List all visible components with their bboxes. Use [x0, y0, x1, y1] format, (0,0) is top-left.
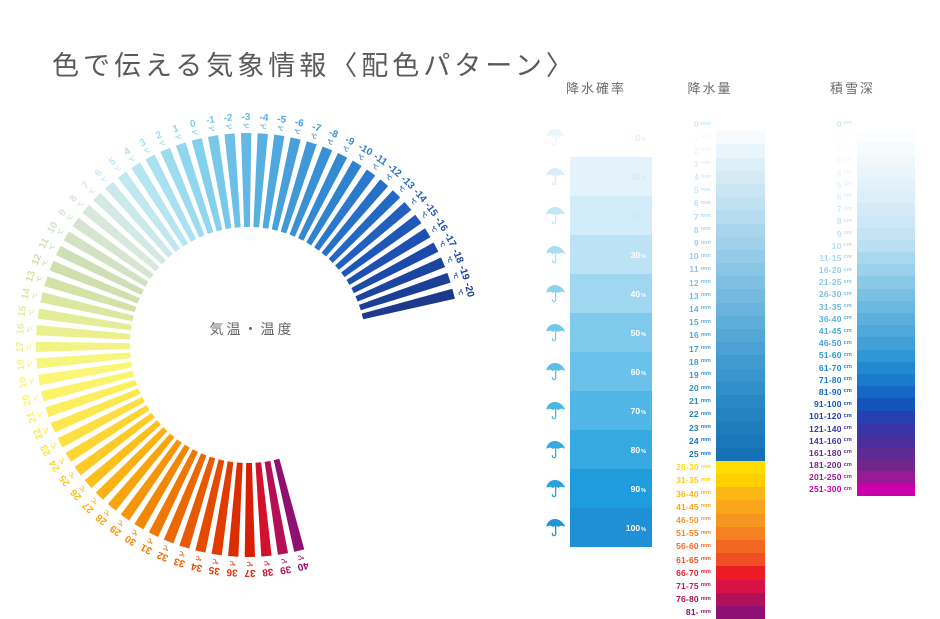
legend-row: 56-60mm — [655, 540, 765, 553]
legend-row: 71-80cm — [790, 374, 915, 386]
temperature-tick-label: -9℃ — [340, 134, 356, 154]
temperature-dial-svg: -20℃-19℃-18℃-17℃-16℃-15℃-14℃-13℃-12℃-11℃… — [0, 95, 520, 595]
legend-row: 6mm — [655, 197, 765, 210]
legend-row-label: 16-20cm — [790, 264, 857, 276]
color-swatch: 50% — [570, 313, 652, 352]
legend-row-label: 1cm — [790, 130, 857, 142]
color-swatch: 20% — [570, 196, 652, 235]
color-swatch — [716, 197, 765, 210]
svg-text:17: 17 — [15, 341, 26, 353]
legend-row-label: 31-35cm — [790, 301, 857, 313]
color-swatch — [716, 303, 765, 316]
legend-row: 251-300cm — [790, 484, 915, 496]
color-swatch — [716, 184, 765, 197]
color-swatch — [716, 369, 765, 382]
color-swatch — [857, 435, 915, 447]
color-swatch: 60% — [570, 352, 652, 391]
svg-text:℃: ℃ — [229, 559, 236, 566]
legend-row: 22mm — [655, 408, 765, 421]
svg-text:℃: ℃ — [246, 560, 253, 567]
temperature-tick-label: -7℃ — [308, 121, 322, 141]
legend-row: 81-mm — [655, 606, 765, 619]
legend-row-label: 24mm — [655, 435, 716, 448]
legend-row: 5cm — [790, 179, 915, 191]
legend-row-label: 23mm — [655, 421, 716, 434]
umbrella-icon-wrap — [540, 196, 570, 235]
color-swatch — [857, 386, 915, 398]
svg-text:℃: ℃ — [208, 125, 216, 133]
legend-row-label: 81-mm — [655, 606, 716, 619]
svg-text:19: 19 — [17, 376, 30, 389]
legend-row-label: 41-45mm — [655, 500, 716, 513]
legend-row-label: 9mm — [655, 237, 716, 250]
color-swatch — [857, 423, 915, 435]
temperature-tick-label: -3℃ — [242, 112, 251, 130]
svg-text:0: 0 — [189, 118, 197, 130]
color-swatch — [857, 362, 915, 374]
color-swatch: 80% — [570, 430, 652, 469]
svg-text:℃: ℃ — [280, 557, 288, 565]
umbrella-icon — [544, 361, 566, 383]
legend-row-label: 121-140cm — [790, 423, 857, 435]
svg-text:16: 16 — [15, 323, 27, 335]
svg-text:℃: ℃ — [263, 559, 271, 567]
umbrella-icon-wrap — [540, 313, 570, 352]
legend-row: 2cm — [790, 142, 915, 154]
color-swatch — [716, 250, 765, 263]
temperature-tick-label: 4℃ — [122, 145, 137, 164]
svg-text:38: 38 — [261, 566, 273, 578]
legend-row-label: 12mm — [655, 276, 716, 289]
legend-row: 90% — [540, 469, 652, 508]
legend-row: 1cm — [790, 130, 915, 142]
temperature-tick-label: 10℃ — [45, 220, 66, 239]
umbrella-icon — [544, 127, 566, 149]
svg-text:℃: ℃ — [211, 557, 219, 565]
color-swatch — [857, 459, 915, 471]
color-swatch: 100% — [570, 508, 652, 547]
legend-row-label: 46-50cm — [790, 337, 857, 349]
legend-row-label: 2cm — [790, 142, 857, 154]
color-swatch — [857, 276, 915, 288]
legend-row-label: 21mm — [655, 395, 716, 408]
color-swatch — [716, 158, 765, 171]
swatch-value-label: 50% — [631, 328, 646, 338]
legend-row: 46-50mm — [655, 514, 765, 527]
umbrella-icon-wrap — [540, 508, 570, 547]
legend-row-label: 26-30cm — [790, 289, 857, 301]
legend-row: 3mm — [655, 158, 765, 171]
legend-row: 21mm — [655, 395, 765, 408]
temperature-tick-label: -4℃ — [259, 112, 270, 131]
color-swatch — [857, 142, 915, 154]
legend-row-label: 61-70cm — [790, 362, 857, 374]
legend-row-label: 10mm — [655, 250, 716, 263]
legend-row-label: 0mm — [655, 118, 716, 131]
legend-row-label: 10cm — [790, 240, 857, 252]
legend-row-label: 25mm — [655, 448, 716, 461]
color-swatch — [857, 167, 915, 179]
legend-row: 26-30cm — [790, 289, 915, 301]
legend-row-label: 11-15cm — [790, 252, 857, 264]
color-swatch — [716, 210, 765, 223]
color-swatch — [716, 329, 765, 342]
legend-row: 11-15cm — [790, 252, 915, 264]
legend-row: 36-40mm — [655, 487, 765, 500]
swatch-value-label: 0% — [635, 133, 646, 143]
temperature-spoke — [36, 342, 130, 352]
temperature-tick-label: 36℃ — [226, 559, 239, 578]
legend-row: 24mm — [655, 435, 765, 448]
legend-row-label: 14mm — [655, 303, 716, 316]
temperature-tick-label: -6℃ — [292, 117, 305, 137]
color-swatch — [716, 342, 765, 355]
temperature-tick-label: 12℃ — [30, 252, 51, 269]
color-swatch — [716, 540, 765, 553]
umbrella-icon — [544, 244, 566, 266]
color-swatch — [857, 484, 915, 496]
legend-row: 10cm — [790, 240, 915, 252]
umbrella-icon — [544, 205, 566, 227]
legend-row-label: 18mm — [655, 355, 716, 368]
legend-row: 6cm — [790, 191, 915, 203]
legend-row-label: 46-50mm — [655, 514, 716, 527]
legend-row: 71-75mm — [655, 580, 765, 593]
color-swatch: 90% — [570, 469, 652, 508]
temperature-tick-label: 26℃ — [68, 482, 89, 503]
color-swatch — [857, 313, 915, 325]
color-swatch — [857, 118, 915, 130]
color-swatch — [857, 264, 915, 276]
legend-row: 4mm — [655, 171, 765, 184]
umbrella-icon-wrap — [540, 469, 570, 508]
color-swatch — [716, 553, 765, 566]
legend-row-label: 161-180cm — [790, 447, 857, 459]
temperature-tick-label: -19℃ — [450, 264, 472, 284]
color-swatch: 0% — [570, 118, 652, 157]
legend-row: 8mm — [655, 224, 765, 237]
legend-row: 51-55mm — [655, 527, 765, 540]
legend-row: 1mm — [655, 131, 765, 144]
legend-row: 8cm — [790, 216, 915, 228]
color-swatch — [857, 398, 915, 410]
legend-row-label: 251-300cm — [790, 484, 857, 496]
legend-row-label: 7cm — [790, 203, 857, 215]
legend-row: 16mm — [655, 329, 765, 342]
legend-row: 181-200cm — [790, 459, 915, 471]
legend-row: 5mm — [655, 184, 765, 197]
legend-row: 60% — [540, 352, 652, 391]
color-swatch — [716, 224, 765, 237]
legend-row-label: 7mm — [655, 210, 716, 223]
temperature-tick-label: -20℃ — [455, 282, 476, 301]
umbrella-icon — [544, 322, 566, 344]
color-swatch: 70% — [570, 391, 652, 430]
temperature-tick-label: 0℃ — [189, 118, 200, 137]
legend-row-label: 71-80cm — [790, 374, 857, 386]
color-swatch — [716, 263, 765, 276]
temperature-tick-label: -1℃ — [205, 114, 217, 133]
umbrella-icon-wrap — [540, 391, 570, 430]
page-title: 色で伝える気象情報〈配色パターン〉 — [52, 44, 577, 83]
svg-text:℃: ℃ — [27, 360, 35, 368]
color-swatch — [716, 408, 765, 421]
legend-row-label: 181-200cm — [790, 459, 857, 471]
temperature-tick-label: 35℃ — [208, 557, 222, 577]
legend-row: 41-45cm — [790, 325, 915, 337]
legend-row-label: 91-100cm — [790, 398, 857, 410]
legend-body-precipitation-probability: 0%10%20%30%40%50%60%70%80%90%100% — [540, 118, 652, 547]
temperature-tick-label: 7℃ — [80, 179, 98, 197]
svg-text:-17: -17 — [442, 231, 459, 249]
legend-row-label: 3mm — [655, 158, 716, 171]
color-swatch — [716, 474, 765, 487]
legend-row: 23mm — [655, 421, 765, 434]
color-swatch — [857, 203, 915, 215]
legend-row-label: 0cm — [790, 118, 857, 130]
legend-row: 141-160cm — [790, 435, 915, 447]
color-swatch — [857, 191, 915, 203]
temperature-tick-label: 11℃ — [37, 236, 58, 254]
temperature-tick-label: 37℃ — [244, 560, 256, 578]
legend-row-label: 8cm — [790, 216, 857, 228]
temperature-tick-label: 1℃ — [171, 123, 183, 142]
color-swatch: 10% — [570, 157, 652, 196]
color-swatch — [716, 448, 765, 461]
temperature-tick-label: 16℃ — [15, 323, 34, 336]
legend-row-label: 71-75mm — [655, 580, 716, 593]
legend-row: 17mm — [655, 342, 765, 355]
temperature-tick-label: -10℃ — [353, 142, 375, 165]
temperature-tick-label: 5℃ — [107, 155, 123, 174]
svg-text:-18: -18 — [450, 247, 466, 265]
legend-row: 80% — [540, 430, 652, 469]
temperature-spoke — [245, 463, 255, 557]
temperature-tick-label: 8℃ — [68, 192, 86, 209]
umbrella-icon — [544, 166, 566, 188]
legend-row: 9mm — [655, 237, 765, 250]
color-swatch — [857, 179, 915, 191]
temperature-tick-label: 29℃ — [108, 517, 128, 538]
legend-row-label: 6mm — [655, 197, 716, 210]
legend-row: 51-60cm — [790, 350, 915, 362]
color-swatch — [857, 252, 915, 264]
temperature-tick-label: 20℃ — [20, 391, 40, 407]
color-swatch — [857, 350, 915, 362]
legend-row: 7mm — [655, 210, 765, 223]
legend-row: 13mm — [655, 289, 765, 302]
legend-row: 66-70mm — [655, 566, 765, 579]
temperature-tick-label: 30℃ — [123, 526, 142, 547]
color-swatch — [716, 606, 765, 619]
legend-row-label: 51-55mm — [655, 527, 716, 540]
legend-row-label: 1mm — [655, 131, 716, 144]
color-swatch — [716, 593, 765, 606]
legend-row-label: 17mm — [655, 342, 716, 355]
legend-row: 101-120cm — [790, 411, 915, 423]
legend-row: 36-40cm — [790, 313, 915, 325]
legend-row-label: 13mm — [655, 289, 716, 302]
temperature-tick-label: -2℃ — [223, 112, 234, 131]
legend-row: 7cm — [790, 203, 915, 215]
temperature-tick-label: -5℃ — [275, 114, 287, 133]
legend-row: 0% — [540, 118, 652, 157]
temperature-tick-label: 13℃ — [24, 269, 45, 285]
svg-text:-2: -2 — [223, 112, 233, 124]
temperature-tick-label: 31℃ — [139, 535, 157, 556]
svg-text:℃: ℃ — [28, 308, 36, 316]
color-swatch — [716, 500, 765, 513]
legend-row: 0mm — [655, 118, 765, 131]
swatch-value-label: 40% — [631, 289, 646, 299]
svg-text:℃: ℃ — [26, 343, 33, 350]
legend-title-precipitation-probability: 降水確率 — [540, 78, 652, 100]
swatch-value-label: 90% — [631, 484, 646, 494]
color-swatch — [857, 471, 915, 483]
umbrella-icon-wrap — [540, 157, 570, 196]
legend-row: 4cm — [790, 167, 915, 179]
color-swatch — [857, 337, 915, 349]
legend-row-label: 36-40mm — [655, 487, 716, 500]
color-swatch — [857, 411, 915, 423]
svg-text:℃: ℃ — [226, 124, 234, 132]
legend-row-label: 19mm — [655, 369, 716, 382]
color-swatch — [857, 301, 915, 313]
svg-text:-19: -19 — [456, 264, 471, 282]
legend-row: 46-50cm — [790, 337, 915, 349]
legend-precipitation-probability: 降水確率 0%10%20%30%40%50%60%70%80%90%100% — [540, 78, 652, 547]
legend-body-snow-depth: 0cm1cm2cm3cm4cm5cm6cm7cm8cm9cm10cm11-15c… — [790, 118, 915, 496]
svg-text:℃: ℃ — [277, 125, 285, 133]
legend-row-label: 5cm — [790, 179, 857, 191]
svg-text:36: 36 — [226, 566, 238, 578]
color-swatch — [716, 421, 765, 434]
svg-text:℃: ℃ — [26, 326, 33, 333]
swatch-value-label: 20% — [631, 211, 646, 221]
svg-text:℃: ℃ — [28, 377, 36, 385]
color-swatch — [716, 118, 765, 131]
legend-row: 25mm — [655, 448, 765, 461]
color-swatch — [716, 395, 765, 408]
legend-row-label: 31-35mm — [655, 474, 716, 487]
legend-row: 31-35mm — [655, 474, 765, 487]
legend-row-label: 141-160cm — [790, 435, 857, 447]
legend-row: 31-35cm — [790, 301, 915, 313]
legend-row-label: 4cm — [790, 167, 857, 179]
color-swatch — [716, 289, 765, 302]
color-swatch — [857, 155, 915, 167]
swatch-value-label: 80% — [631, 445, 646, 455]
swatch-value-label: 10% — [631, 172, 646, 182]
legend-row: 20mm — [655, 382, 765, 395]
temperature-tick-label: 2℃ — [154, 129, 167, 148]
temperature-tick-label: 3℃ — [138, 137, 153, 156]
svg-text:15: 15 — [17, 305, 30, 318]
legend-row-label: 16mm — [655, 329, 716, 342]
umbrella-icon — [544, 400, 566, 422]
legend-row: 161-180cm — [790, 447, 915, 459]
legend-row-label: 61-65mm — [655, 553, 716, 566]
legend-row: 3cm — [790, 155, 915, 167]
legend-row: 12mm — [655, 276, 765, 289]
temperature-tick-label: 17℃ — [15, 341, 33, 353]
legend-row-label: 41-45cm — [790, 325, 857, 337]
legend-row-label: 15mm — [655, 316, 716, 329]
legend-row: 100% — [540, 508, 652, 547]
svg-text:35: 35 — [208, 564, 221, 577]
svg-text:1: 1 — [171, 123, 180, 135]
legend-row: 26-30mm — [655, 461, 765, 474]
svg-text:2: 2 — [154, 129, 164, 141]
svg-text:℃: ℃ — [260, 123, 267, 130]
color-swatch — [857, 447, 915, 459]
umbrella-icon-wrap — [540, 118, 570, 157]
swatch-value-label: 60% — [631, 367, 646, 377]
color-swatch — [716, 131, 765, 144]
color-swatch — [716, 514, 765, 527]
legend-row: 41-45mm — [655, 500, 765, 513]
color-swatch — [716, 237, 765, 250]
umbrella-icon — [544, 283, 566, 305]
svg-text:℃: ℃ — [243, 123, 250, 130]
legend-row-label: 8mm — [655, 224, 716, 237]
svg-text:39: 39 — [279, 563, 292, 576]
svg-text:40: 40 — [296, 559, 310, 572]
legend-row: 81-90cm — [790, 386, 915, 398]
color-swatch — [716, 435, 765, 448]
legend-row: 50% — [540, 313, 652, 352]
swatch-value-label: 100% — [626, 523, 646, 533]
temperature-tick-label: 22℃ — [31, 423, 52, 441]
color-swatch: 40% — [570, 274, 652, 313]
svg-text:-5: -5 — [276, 114, 287, 126]
legend-row-label: 6cm — [790, 191, 857, 203]
legend-row-label: 201-250cm — [790, 471, 857, 483]
legend-row-label: 81-90cm — [790, 386, 857, 398]
legend-row: 0cm — [790, 118, 915, 130]
legend-snow-depth: 積雪深 0cm1cm2cm3cm4cm5cm6cm7cm8cm9cm10cm11… — [790, 78, 915, 496]
color-swatch — [716, 527, 765, 540]
legend-title-snow-depth: 積雪深 — [790, 78, 915, 100]
umbrella-icon — [544, 439, 566, 461]
temperature-tick-label: 40℃ — [294, 552, 310, 572]
umbrella-icon-wrap — [540, 352, 570, 391]
legend-row: 2mm — [655, 144, 765, 157]
legend-row-label: 51-60cm — [790, 350, 857, 362]
legend-precipitation-amount: 降水量 0mm1mm2mm3mm4mm5mm6mm7mm8mm9mm10mm11… — [655, 78, 765, 619]
legend-row: 10mm — [655, 250, 765, 263]
umbrella-icon-wrap — [540, 274, 570, 313]
color-swatch — [857, 374, 915, 386]
legend-row: 21-25cm — [790, 276, 915, 288]
svg-text:-4: -4 — [259, 112, 269, 124]
color-swatch: 30% — [570, 235, 652, 274]
legend-row: 61-65mm — [655, 553, 765, 566]
swatch-value-label: 30% — [631, 250, 646, 260]
legend-row: 11mm — [655, 263, 765, 276]
color-swatch — [857, 216, 915, 228]
color-swatch — [857, 130, 915, 142]
temperature-tick-label: 27℃ — [80, 494, 101, 515]
temperature-tick-label: 21℃ — [25, 408, 46, 425]
legend-row: 20% — [540, 196, 652, 235]
umbrella-icon-wrap — [540, 235, 570, 274]
legend-row: 15mm — [655, 316, 765, 329]
legend-row: 19mm — [655, 369, 765, 382]
svg-text:-20: -20 — [462, 282, 476, 299]
svg-text:18: 18 — [15, 358, 27, 370]
legend-row: 18mm — [655, 355, 765, 368]
